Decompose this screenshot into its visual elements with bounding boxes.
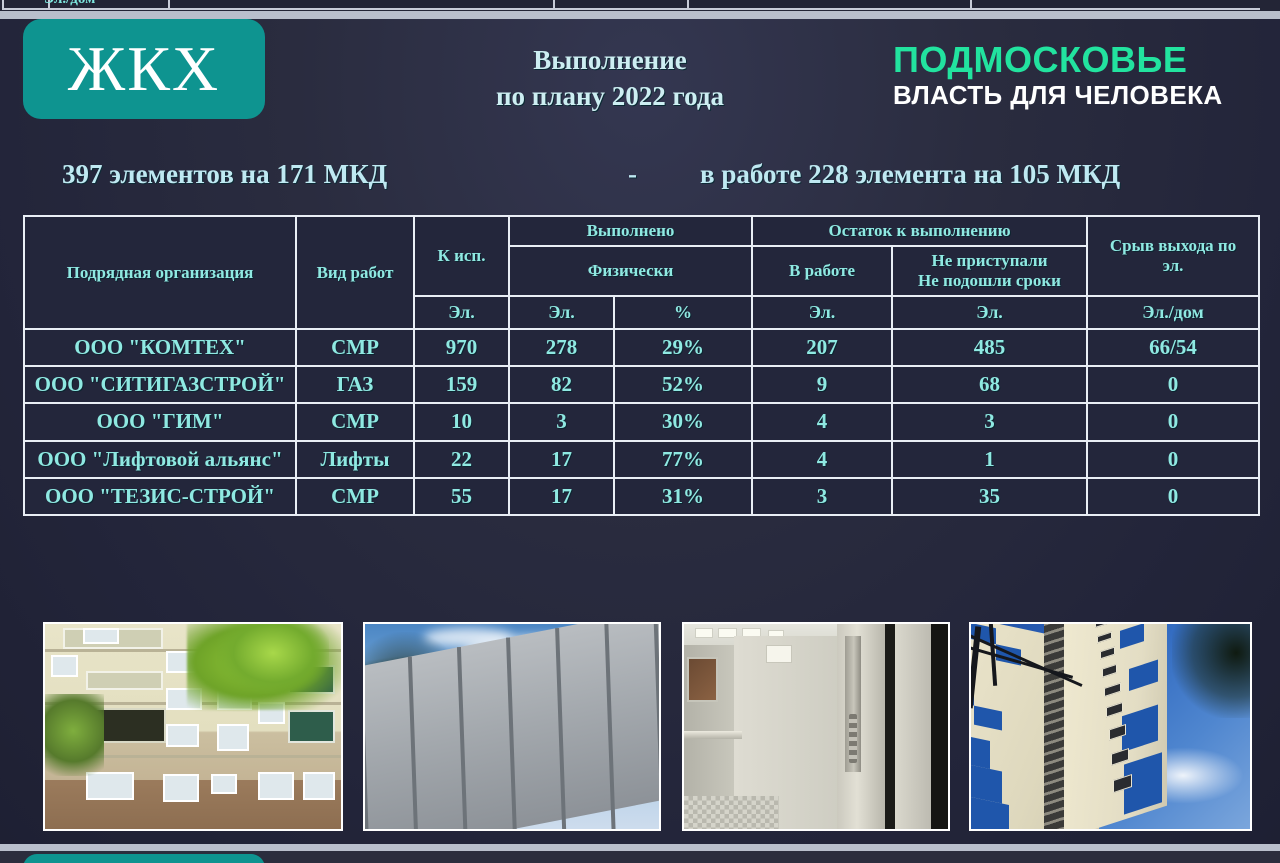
brand-tagline-label: ВЛАСТЬ ДЛЯ ЧЕЛОВЕКА [893, 81, 1258, 111]
col-header-to-execute: К исп. [414, 216, 509, 296]
slide-canvas: ЖКХ Выполнение по плану 2022 года ПОДМОС… [0, 19, 1280, 844]
cell-done-pct: 52% [614, 366, 752, 403]
cell-failure: 0 [1087, 366, 1259, 403]
photo-highrise-facade [969, 622, 1252, 831]
cell-done-el: 17 [509, 478, 614, 515]
cell-done-pct: 77% [614, 441, 752, 478]
cell-failure: 0 [1087, 403, 1259, 440]
next-slide-peek [0, 851, 1280, 863]
stats-separator: - [628, 159, 637, 190]
col-header-failure-line-2: эл. [1091, 256, 1255, 276]
cell-not-started: 1 [892, 441, 1087, 478]
cell-work-kind: ГАЗ [296, 366, 414, 403]
zhkh-logo-label: ЖКХ [68, 37, 220, 101]
col-header-not-started-line-2: Не подошли сроки [896, 271, 1083, 291]
cell-organization: ООО "ТЕЗИС-СТРОЙ" [24, 478, 296, 515]
table-row: ООО "КОМТЕХ" СМР 970 278 29% 207 485 66/… [24, 329, 1259, 366]
page-title: Выполнение по плану 2022 года [380, 43, 840, 115]
col-header-not-started-line-1: Не приступали [896, 251, 1083, 271]
unit-failure: Эл./дом [1087, 296, 1259, 329]
summary-stats-line: 397 элементов на 171 МКД - в работе 228 … [0, 159, 1280, 199]
cell-organization: ООО "СИТИГАЗСТРОЙ" [24, 366, 296, 403]
col-header-done-physically: Физически [509, 246, 752, 296]
stats-total-label: 397 элементов на 171 МКД [62, 159, 387, 190]
cell-organization: ООО "КОМТЕХ" [24, 329, 296, 366]
col-header-work-kind: Вид работ [296, 216, 414, 329]
cell-to-execute: 10 [414, 403, 509, 440]
table-row: ООО "ТЕЗИС-СТРОЙ" СМР 55 17 31% 3 35 0 [24, 478, 1259, 515]
cell-failure: 0 [1087, 441, 1259, 478]
cell-failure: 66/54 [1087, 329, 1259, 366]
cut-table-cell [2, 0, 48, 10]
cell-in-work: 4 [752, 441, 892, 478]
cell-organization: ООО "Лифтовой альянс" [24, 441, 296, 478]
cut-table-cell [168, 0, 553, 10]
cell-not-started: 3 [892, 403, 1087, 440]
cell-to-execute: 22 [414, 441, 509, 478]
cell-work-kind: Лифты [296, 441, 414, 478]
cut-table-cell [970, 0, 1260, 10]
cell-not-started: 35 [892, 478, 1087, 515]
cell-done-pct: 29% [614, 329, 752, 366]
cell-done-el: 82 [509, 366, 614, 403]
cell-in-work: 3 [752, 478, 892, 515]
table-row: ООО "СИТИГАЗСТРОЙ" ГАЗ 159 82 52% 9 68 0 [24, 366, 1259, 403]
cell-not-started: 485 [892, 329, 1087, 366]
contractors-table: Подрядная организация Вид работ К исп. В… [23, 215, 1260, 516]
cell-in-work: 207 [752, 329, 892, 366]
unit-done-el: Эл. [509, 296, 614, 329]
unit-done-pct: % [614, 296, 752, 329]
cell-work-kind: СМР [296, 403, 414, 440]
cell-in-work: 9 [752, 366, 892, 403]
photo-apartment-facade [43, 622, 343, 831]
table-header-row-1: Подрядная организация Вид работ К исп. В… [24, 216, 1259, 246]
unit-not-started: Эл. [892, 296, 1087, 329]
col-header-failure-line-1: Срыв выхода по [1091, 236, 1255, 256]
cell-done-pct: 30% [614, 403, 752, 440]
previous-slide-peek: Эл./дом [0, 0, 1280, 11]
cell-done-el: 278 [509, 329, 614, 366]
photo-metal-roof [363, 622, 661, 831]
table-row: ООО "Лифтовой альянс" Лифты 22 17 77% 4 … [24, 441, 1259, 478]
brand-block: ПОДМОСКОВЬЕ ВЛАСТЬ ДЛЯ ЧЕЛОВЕКА [893, 41, 1258, 111]
slide-divider-bottom [0, 844, 1280, 851]
cut-table-cell [553, 0, 687, 10]
col-header-in-work: В работе [752, 246, 892, 296]
table-row: ООО "ГИМ" СМР 10 3 30% 4 3 0 [24, 403, 1259, 440]
table-header: Подрядная организация Вид работ К исп. В… [24, 216, 1259, 329]
cell-in-work: 4 [752, 403, 892, 440]
cell-work-kind: СМР [296, 478, 414, 515]
cell-to-execute: 970 [414, 329, 509, 366]
cell-to-execute: 55 [414, 478, 509, 515]
next-slide-logo-badge [23, 854, 265, 863]
col-header-organization: Подрядная организация [24, 216, 296, 329]
cell-organization: ООО "ГИМ" [24, 403, 296, 440]
cut-table-unit-label: Эл./дом [44, 0, 95, 8]
cut-table-cell [687, 0, 970, 10]
stats-inwork-label: в работе 228 элемента на 105 МКД [700, 159, 1120, 190]
col-header-not-started: Не приступали Не подошли сроки [892, 246, 1087, 296]
cell-to-execute: 159 [414, 366, 509, 403]
photo-strip [0, 605, 1280, 830]
brand-primary-label: ПОДМОСКОВЬЕ [893, 41, 1258, 79]
cell-done-el: 17 [509, 441, 614, 478]
col-header-remaining-group: Остаток к выполнению [752, 216, 1087, 246]
slide-divider-top [0, 11, 1280, 19]
col-header-done-group: Выполнено [509, 216, 752, 246]
page-title-line-1: Выполнение [380, 43, 840, 79]
table-body: ООО "КОМТЕХ" СМР 970 278 29% 207 485 66/… [24, 329, 1259, 515]
cell-work-kind: СМР [296, 329, 414, 366]
cell-not-started: 68 [892, 366, 1087, 403]
page-title-line-2: по плану 2022 года [380, 79, 840, 115]
cell-done-el: 3 [509, 403, 614, 440]
cell-done-pct: 31% [614, 478, 752, 515]
cell-failure: 0 [1087, 478, 1259, 515]
unit-in-work: Эл. [752, 296, 892, 329]
photo-elevator-cabin [682, 622, 950, 831]
unit-to-execute: Эл. [414, 296, 509, 329]
zhkh-logo-badge: ЖКХ [23, 19, 265, 119]
col-header-failure: Срыв выхода по эл. [1087, 216, 1259, 296]
